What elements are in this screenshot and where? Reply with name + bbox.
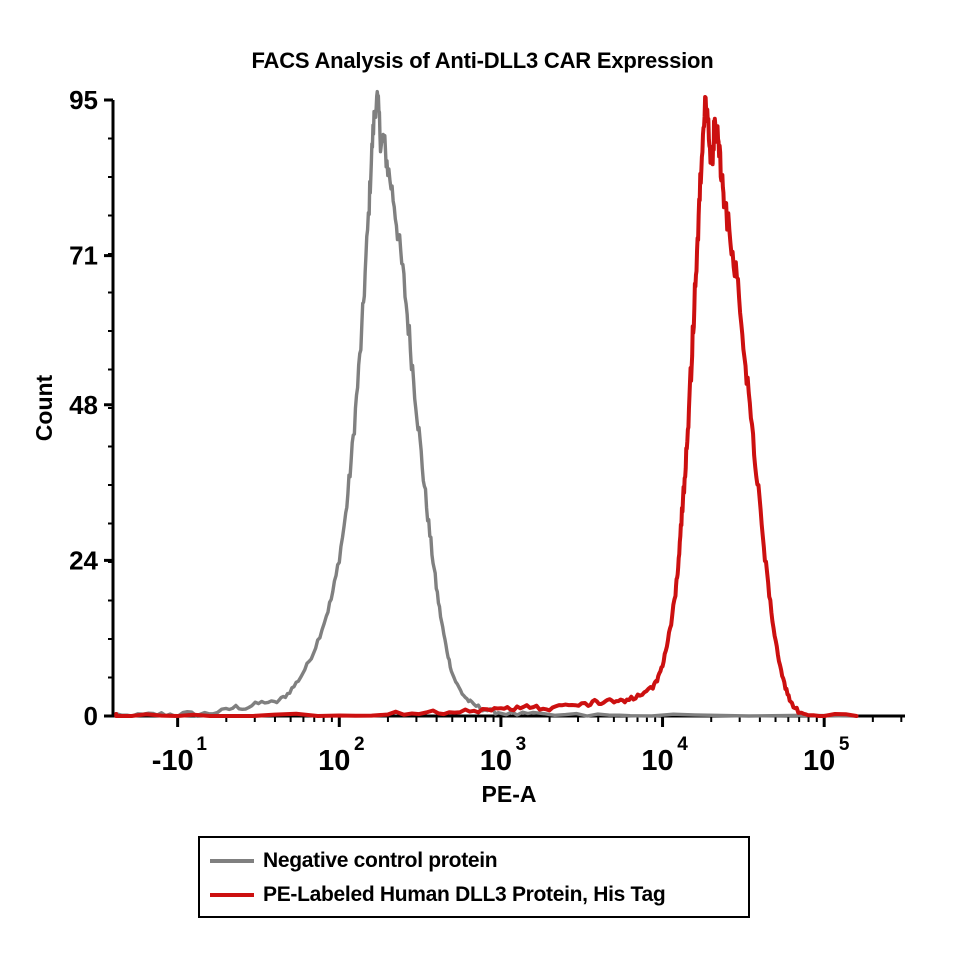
series-line bbox=[116, 97, 856, 716]
x-tick-label: 10 bbox=[480, 745, 512, 777]
x-tick-exponent: 4 bbox=[677, 734, 688, 755]
plot-area: 024487195 -101102103104105 PE-A Count bbox=[0, 0, 965, 965]
y-axis-title: Count bbox=[31, 374, 57, 441]
legend-item[interactable]: PE-Labeled Human DLL3 Protein, His Tag bbox=[200, 878, 748, 912]
axes bbox=[113, 100, 905, 716]
y-tick-label: 24 bbox=[69, 545, 98, 575]
legend-swatch-negative-control bbox=[210, 859, 254, 863]
legend-item[interactable]: Negative control protein bbox=[200, 844, 748, 878]
x-axis-title: PE-A bbox=[482, 781, 537, 807]
x-axis-ticks bbox=[178, 716, 902, 727]
facs-histogram-figure: FACS Analysis of Anti-DLL3 CAR Expressio… bbox=[0, 0, 965, 965]
y-axis-tick-labels: 024487195 bbox=[69, 85, 98, 731]
x-tick-label: 10 bbox=[318, 745, 350, 777]
x-tick-label: -10 bbox=[152, 745, 194, 777]
x-tick-exponent: 3 bbox=[516, 734, 527, 755]
y-tick-label: 95 bbox=[69, 85, 98, 115]
y-tick-label: 48 bbox=[69, 390, 98, 420]
data-series-group bbox=[116, 92, 856, 716]
series-line bbox=[116, 92, 856, 716]
legend-swatch-pe-labeled-dll3 bbox=[210, 893, 254, 897]
x-tick-label: 10 bbox=[803, 745, 835, 777]
x-tick-exponent: 1 bbox=[196, 734, 207, 755]
legend: Negative control protein PE-Labeled Huma… bbox=[198, 836, 750, 918]
legend-label-pe-labeled-dll3: PE-Labeled Human DLL3 Protein, His Tag bbox=[263, 883, 665, 907]
y-tick-label: 0 bbox=[84, 701, 98, 731]
x-tick-exponent: 5 bbox=[839, 734, 850, 755]
x-tick-label: 10 bbox=[641, 745, 673, 777]
x-axis-tick-labels: -101102103104105 bbox=[152, 734, 850, 777]
y-tick-label: 71 bbox=[69, 241, 98, 271]
x-tick-exponent: 2 bbox=[354, 734, 365, 755]
legend-label-negative-control: Negative control protein bbox=[263, 849, 497, 873]
